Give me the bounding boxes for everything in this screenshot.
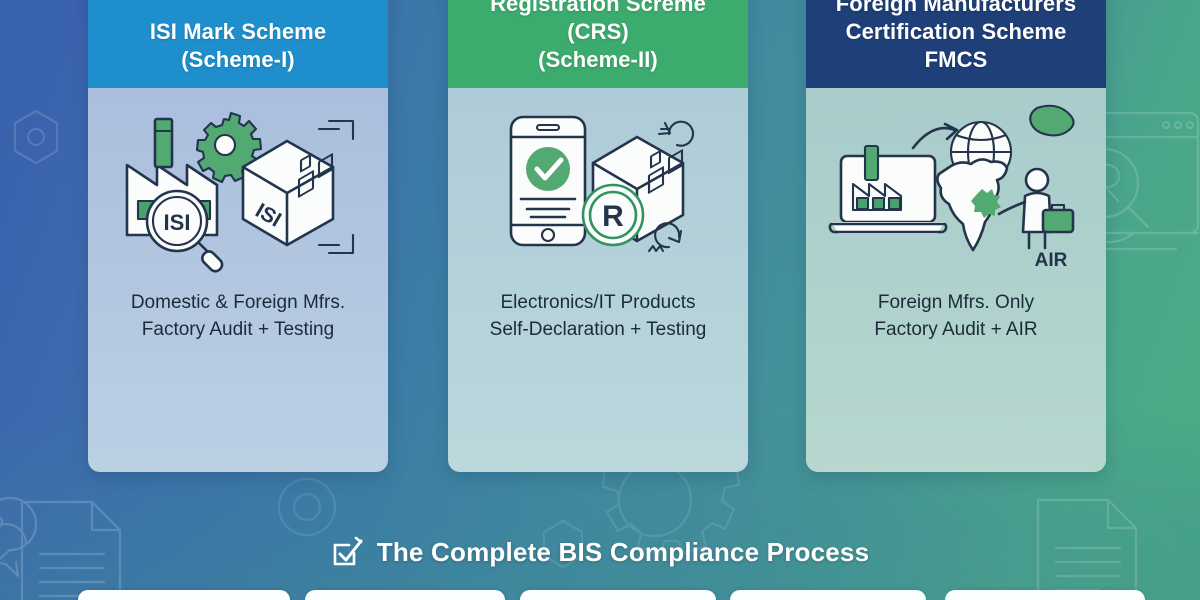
process-heading-text: The Complete BIS Compliance Process [377, 537, 869, 568]
card-body-crs: R Electronics/IT Products Self-Declarati… [448, 88, 748, 472]
card-title-line3: (Scheme-II) [462, 46, 734, 74]
process-step-box-3[interactable] [520, 590, 716, 600]
caption-line-1: Domestic & Foreign Mfrs. [131, 290, 345, 317]
card-header-fmcs: Foreign Manufacturers Certification Sche… [806, 0, 1106, 88]
card-header-isi: ISI Mark Scheme (Scheme-I) [88, 0, 388, 88]
scheme-card-isi-mark[interactable]: ISI Mark Scheme (Scheme-I) [88, 0, 388, 472]
card-title-line1: Foreign Manufacturers [820, 0, 1092, 18]
card-title-line2: Registration Screme (CRS) [462, 0, 734, 46]
card-title-line2: (Scheme-I) [102, 46, 374, 74]
caption-line-1: Electronics/IT Products [490, 290, 707, 317]
process-step-box-5[interactable] [945, 590, 1145, 600]
process-section-heading: The Complete BIS Compliance Process [0, 528, 1200, 576]
caption-line-1: Foreign Mfrs. Only [874, 290, 1037, 317]
scheme-cards-row: ISI Mark Scheme (Scheme-I) [0, 0, 1200, 472]
scheme-card-fmcs[interactable]: Foreign Manufacturers Certification Sche… [806, 0, 1106, 472]
caption-line-2: Factory Audit + Testing [131, 317, 345, 344]
card-caption-fmcs: Foreign Mfrs. Only Factory Audit + AIR [862, 288, 1049, 344]
crs-scheme-illustration: R [448, 88, 748, 288]
card-caption-crs: Electronics/IT Products Self-Declaration… [478, 288, 719, 344]
crs-box-registered-label: R [602, 200, 624, 233]
isi-scheme-illustration: ISI ISI [88, 88, 388, 288]
caption-line-2: Factory Audit + AIR [874, 317, 1037, 344]
process-step-box-1[interactable] [78, 590, 290, 600]
fmcs-scheme-illustration: AIR [806, 88, 1106, 288]
card-title-line1: ISI Mark Scheme [102, 18, 374, 46]
card-header-crs: Compulsory Registration Registration Scr… [448, 0, 748, 88]
caption-line-2: Self-Declaration + Testing [490, 317, 707, 344]
card-caption-isi: Domestic & Foreign Mfrs. Factory Audit +… [119, 288, 357, 344]
card-title-line3: FMCS [820, 46, 1092, 74]
card-title-line2: Certification Scheme [820, 18, 1092, 46]
card-body-isi: ISI ISI [88, 88, 388, 472]
card-body-fmcs: AIR Foreign Mfrs. Only Factory Audit + A… [806, 88, 1106, 472]
isi-magnifier-label: ISI [164, 210, 191, 235]
check-edit-icon [331, 535, 365, 569]
scheme-card-compulsory-registration[interactable]: Compulsory Registration Registration Scr… [448, 0, 748, 472]
process-step-box-2[interactable] [305, 590, 505, 600]
process-steps-row [0, 590, 1200, 600]
fmcs-representative-label: AIR [1035, 250, 1068, 271]
process-step-box-4[interactable] [730, 590, 926, 600]
